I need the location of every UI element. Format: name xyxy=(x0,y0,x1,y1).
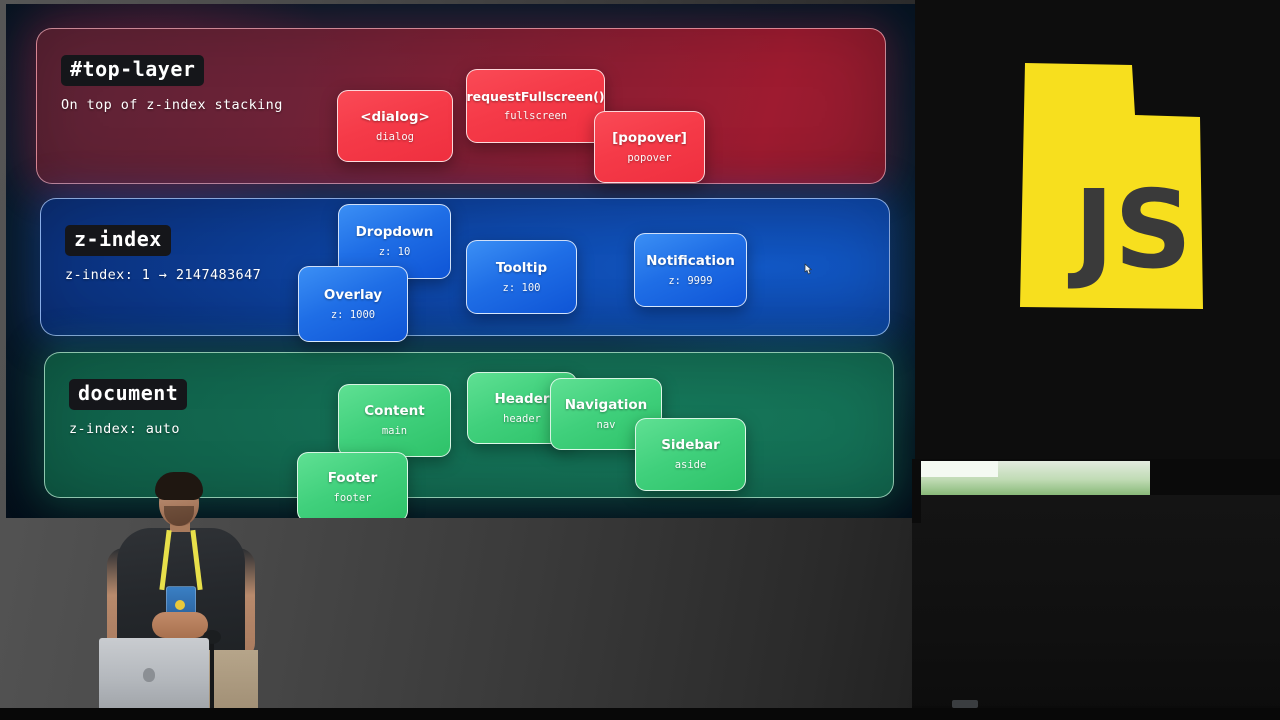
card-title: Notification xyxy=(646,253,735,269)
layer-top-layer: #top-layer On top of z-index stacking xyxy=(36,28,886,184)
card-subtitle: fullscreen xyxy=(504,110,567,123)
card-subtitle: z: 1000 xyxy=(331,309,375,322)
layer-subtitle-top-layer: On top of z-index stacking xyxy=(61,97,283,113)
card-subtitle: z: 9999 xyxy=(668,275,712,288)
card-title: Overlay xyxy=(324,287,382,303)
card-title: [popover] xyxy=(612,130,687,146)
card-subtitle: popover xyxy=(627,152,671,165)
presentation-slide: #top-layer On top of z-index stacking z-… xyxy=(6,4,915,518)
card-subtitle: dialog xyxy=(376,131,414,144)
layer-badge-document: document xyxy=(69,379,187,410)
screen: #top-layer On top of z-index stacking z-… xyxy=(0,0,1280,720)
card-title: <dialog> xyxy=(360,109,430,125)
card-sidebar[interactable]: Sidebar aside xyxy=(635,418,746,491)
desk-object xyxy=(952,700,978,708)
card-tooltip[interactable]: Tooltip z: 100 xyxy=(466,240,577,314)
card-title: Footer xyxy=(328,470,378,486)
mouse-pointer-icon xyxy=(803,262,815,276)
utah-js-logo: JS xyxy=(1015,63,1205,311)
card-title: Dropdown xyxy=(356,224,434,240)
card-title: requestFullscreen() xyxy=(466,89,604,104)
card-title: Content xyxy=(364,403,424,419)
card-title: Tooltip xyxy=(496,260,547,276)
stage-screen-highlight xyxy=(920,461,998,477)
logo-js-letters: JS xyxy=(1067,168,1192,293)
card-subtitle: header xyxy=(503,413,541,426)
card-subtitle: nav xyxy=(597,419,616,432)
microphone-stand xyxy=(210,636,214,718)
card-dialog[interactable]: <dialog> dialog xyxy=(337,90,453,162)
card-title: Navigation xyxy=(565,397,648,413)
speaker-video xyxy=(912,459,1280,720)
card-subtitle: z: 10 xyxy=(379,246,411,259)
layer-subtitle-document: z-index: auto xyxy=(69,421,180,437)
card-subtitle: z: 100 xyxy=(503,282,541,295)
card-notification[interactable]: Notification z: 9999 xyxy=(634,233,747,307)
card-overlay[interactable]: Overlay z: 1000 xyxy=(298,266,408,342)
layer-badge-z-index: z-index xyxy=(65,225,171,256)
card-footer[interactable]: Footer footer xyxy=(297,452,408,518)
apple-logo-icon xyxy=(143,668,155,682)
card-request-fullscreen[interactable]: requestFullscreen() fullscreen xyxy=(466,69,605,143)
card-subtitle: aside xyxy=(675,459,707,472)
card-title: Header xyxy=(494,391,549,407)
speaker-badge-emblem xyxy=(175,600,185,610)
bottom-strip xyxy=(0,708,1280,720)
speaker-hair xyxy=(155,472,203,500)
speaker-hands xyxy=(152,612,208,638)
card-title: Sidebar xyxy=(661,437,720,453)
stage-backdrop xyxy=(912,495,1280,720)
layer-subtitle-z-index: z-index: 1 → 2147483647 xyxy=(65,267,261,283)
card-popover[interactable]: [popover] popover xyxy=(594,111,705,183)
card-content[interactable]: Content main xyxy=(338,384,451,457)
card-subtitle: footer xyxy=(334,492,372,505)
layer-z-index: z-index z-index: 1 → 2147483647 xyxy=(40,198,890,336)
layer-badge-top-layer: #top-layer xyxy=(61,55,204,86)
stage-wall-left xyxy=(912,459,921,523)
card-subtitle: main xyxy=(382,425,407,438)
